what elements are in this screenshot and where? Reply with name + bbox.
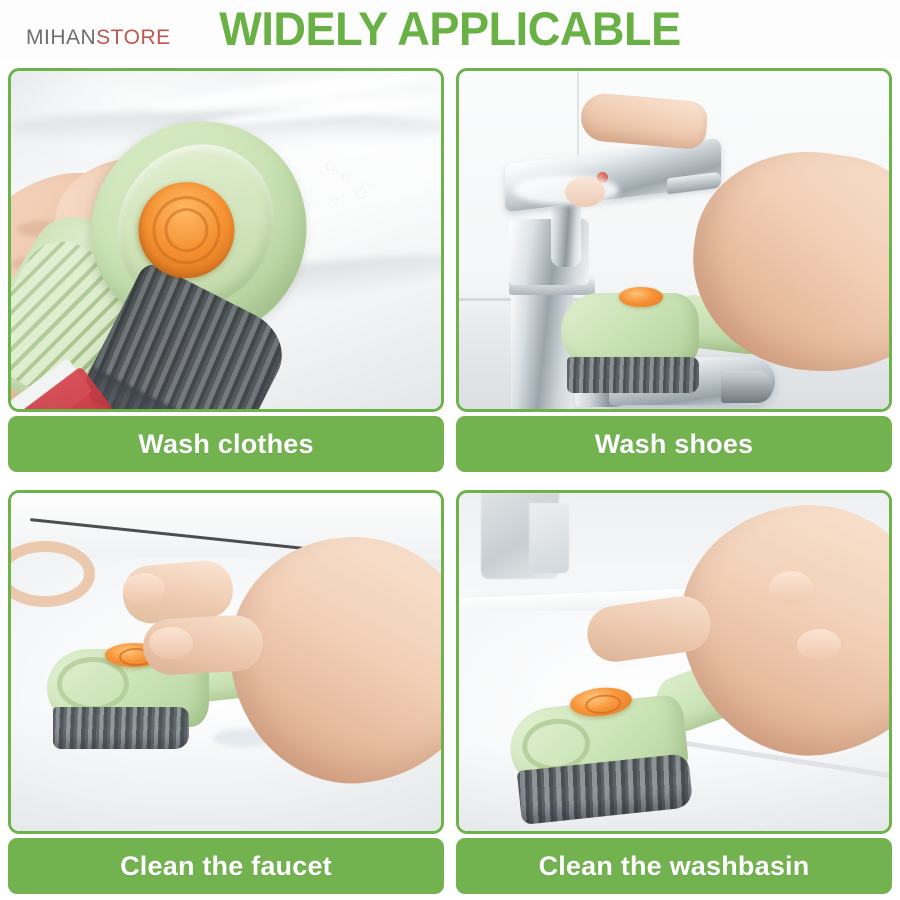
- photo-wash-clothes: [8, 68, 444, 412]
- fingernail: [797, 629, 841, 661]
- watermark-mihan: MIHAN: [26, 26, 96, 49]
- photo-clean-washbasin: [456, 490, 892, 834]
- fingernail: [565, 177, 605, 207]
- photo-wash-shoes: [456, 68, 892, 412]
- watermark-logo: MIHANSTORE: [26, 26, 171, 50]
- soap-bubble: [343, 175, 348, 180]
- panel-wash-shoes: Wash shoes: [456, 68, 892, 472]
- fingernail: [123, 573, 165, 605]
- brush-bristles: [567, 357, 699, 393]
- header: WIDELY APPLICABLE MIHANSTORE: [0, 0, 900, 62]
- background-fixture: [529, 503, 569, 573]
- fingernail: [149, 627, 193, 659]
- brush-bristles: [53, 707, 189, 749]
- panel-clean-faucet: Clean the faucet: [8, 490, 444, 894]
- fingernail: [769, 571, 813, 605]
- soap-dispenser-button: [619, 287, 663, 307]
- photo-clean-faucet: [8, 490, 444, 834]
- caption-wash-clothes: Wash clothes: [8, 416, 444, 472]
- watermark-store: STORE: [96, 26, 170, 49]
- water-droplet: [789, 821, 793, 824]
- soap-bubble: [327, 163, 334, 170]
- caption-clean-washbasin: Clean the washbasin: [456, 838, 892, 894]
- panel-grid: Wash clothes: [8, 68, 892, 894]
- panel-wash-clothes: Wash clothes: [8, 68, 444, 472]
- water-droplet: [759, 823, 765, 827]
- caption-clean-faucet: Clean the faucet: [8, 838, 444, 894]
- soap-bubble: [357, 189, 365, 197]
- panel-clean-washbasin: Clean the washbasin: [456, 490, 892, 894]
- caption-wash-shoes: Wash shoes: [456, 416, 892, 472]
